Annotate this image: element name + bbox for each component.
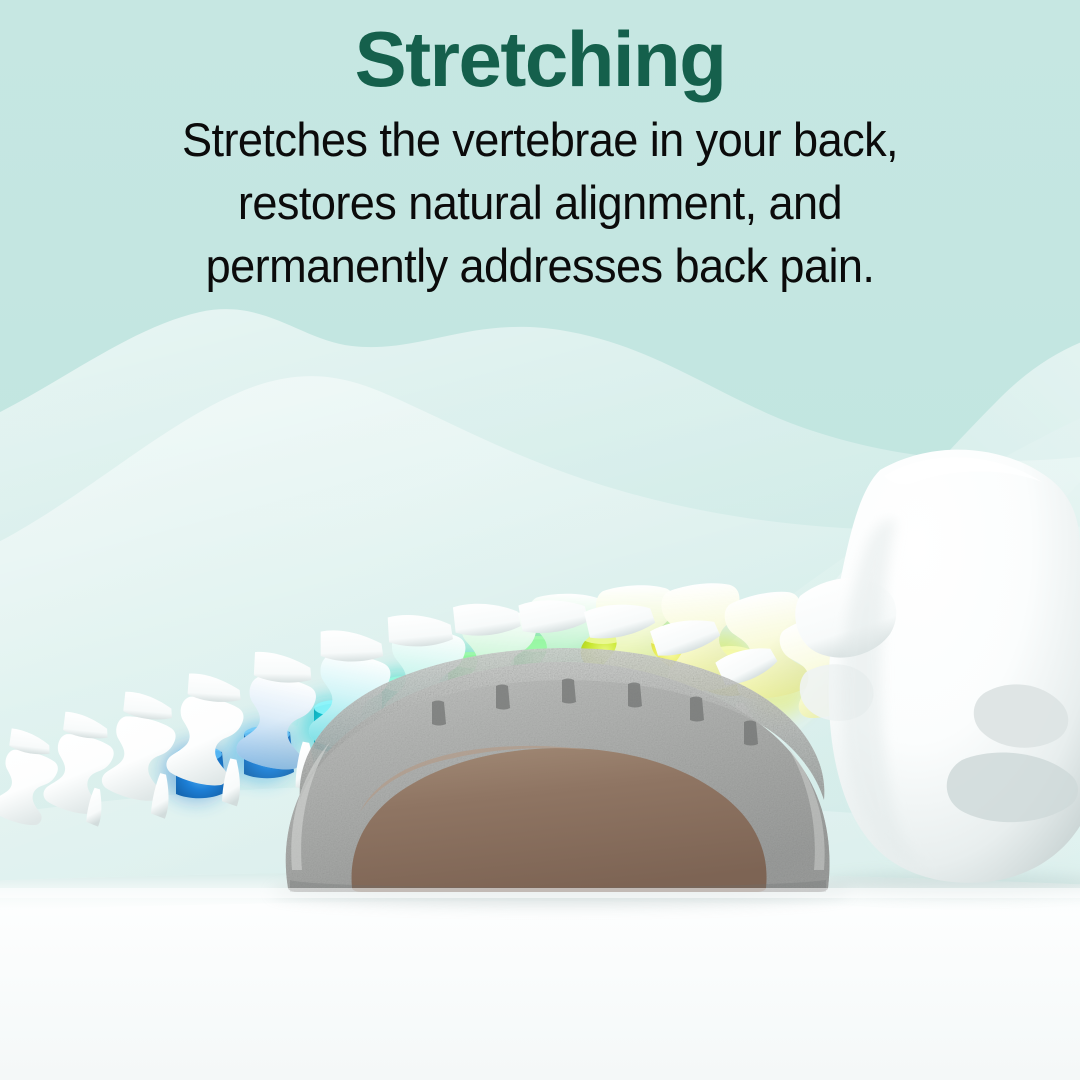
poster-canvas: Stretching Stretches the vertebrae in yo… [0,0,1080,1080]
floor-reflection-haze [0,888,1080,898]
headline-block: Stretching Stretches the vertebrae in yo… [0,0,1080,298]
page-title: Stretching [0,22,1080,97]
sacrum-pelvis-bone [795,450,1080,883]
subtitle-line-3: permanently addresses back pain. [22,235,1059,298]
page-subtitle: Stretches the vertebrae in your back, re… [22,109,1059,298]
subtitle-line-1: Stretches the vertebrae in your back, [22,109,1059,172]
subtitle-line-2: restores natural alignment, and [22,172,1059,235]
